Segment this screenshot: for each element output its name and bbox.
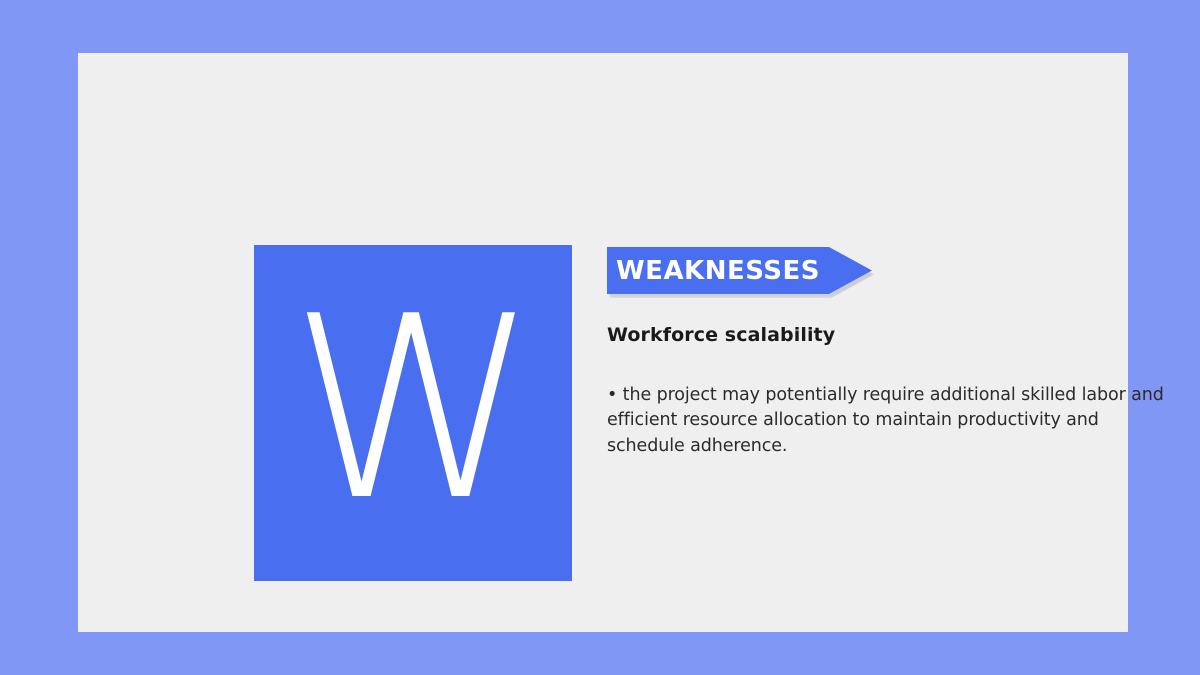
letter-tile: W — [254, 245, 572, 581]
subhead-title: Workforce scalability — [607, 324, 1187, 347]
letter-w-glyph: W — [254, 245, 572, 581]
slide-canvas: W WEAKNESSES Workforce scalability • the… — [0, 0, 1200, 675]
banner-label: WEAKNESSES — [607, 247, 829, 294]
content-column: WEAKNESSES Workforce scalability • the p… — [607, 247, 1187, 459]
body-paragraph: • the project may potentially require ad… — [607, 383, 1179, 460]
weaknesses-banner: WEAKNESSES — [607, 247, 872, 294]
slide-card: W WEAKNESSES Workforce scalability • the… — [78, 53, 1128, 632]
